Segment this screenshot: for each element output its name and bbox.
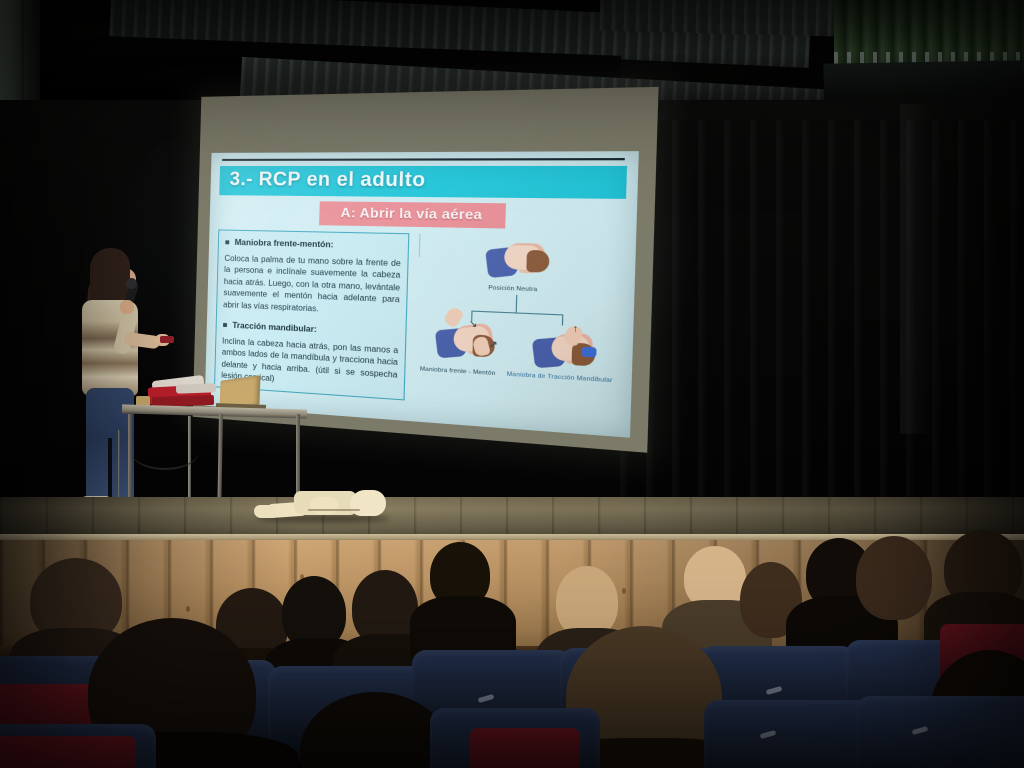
figure-caption-neutral: Posición Neutra bbox=[488, 285, 537, 293]
bullet-dot-icon: ■ bbox=[225, 237, 230, 248]
presenter-hand-mic bbox=[120, 300, 134, 314]
slide-title-bar: 3.- RCP en el adulto bbox=[219, 166, 627, 199]
head-figure-neutral bbox=[486, 241, 551, 280]
head-figure-jaw-thrust: ↑ bbox=[533, 331, 600, 372]
slide-title: 3.- RCP en el adulto bbox=[229, 169, 426, 192]
audience-member-head bbox=[856, 536, 932, 620]
slide-figure: Posición Neutra bbox=[412, 233, 625, 415]
drape-folds bbox=[620, 120, 1024, 520]
theater-seat-accent[interactable] bbox=[0, 736, 136, 768]
auditorium-scene: 3.- RCP en el adulto A: Abrir la vía aér… bbox=[0, 0, 1024, 768]
theater-seat[interactable] bbox=[704, 700, 876, 768]
figure-rail bbox=[419, 233, 421, 257]
bullet-heading: Maniobra frente-mentón: bbox=[234, 237, 333, 251]
figure-caption-jaw-thrust: Maniobra de Tracción Mandibular bbox=[507, 371, 613, 384]
figure-connector bbox=[516, 295, 518, 313]
drape-edge-highlight bbox=[900, 104, 934, 434]
head-figure-head-tilt: ↘ ↗ bbox=[436, 322, 499, 362]
theater-seat-accent[interactable] bbox=[470, 728, 580, 768]
presentation-remote bbox=[160, 336, 174, 343]
bullet-dot-icon: ■ bbox=[222, 319, 227, 330]
presentation-slide: 3.- RCP en el adulto A: Abrir la vía aér… bbox=[205, 151, 639, 438]
slide-body: ■ Maniobra frente-mentón: Coloca la palm… bbox=[214, 229, 625, 415]
slide-text-panel: ■ Maniobra frente-mentón: Coloca la palm… bbox=[214, 229, 409, 400]
figure-connector bbox=[562, 314, 564, 325]
theater-seat[interactable] bbox=[856, 696, 1024, 768]
projection-screen: 3.- RCP en el adulto A: Abrir la vía aér… bbox=[193, 87, 659, 453]
bullet-heading: Tracción mandibular: bbox=[232, 320, 317, 335]
presenter-leg-gap bbox=[108, 438, 112, 502]
bullet-item: ■ Maniobra frente-mentón: bbox=[225, 237, 402, 253]
microphone-head-icon bbox=[126, 278, 137, 289]
audience bbox=[0, 500, 1024, 768]
floor-cable bbox=[130, 430, 200, 470]
bullet-paragraph: Coloca la palma de tu mano sobre la fren… bbox=[223, 253, 401, 318]
figure-connector bbox=[471, 311, 563, 316]
screen-surface: 3.- RCP en el adulto A: Abrir la vía aér… bbox=[205, 151, 639, 438]
slide-top-rule bbox=[222, 158, 625, 161]
training-equipment-white bbox=[176, 383, 216, 393]
figure-caption-head-tilt: Maniobra frente - Mentón bbox=[420, 366, 496, 377]
slide-subtitle-bar: A: Abrir la vía aérea bbox=[319, 201, 506, 228]
slide-subtitle: A: Abrir la vía aérea bbox=[340, 205, 482, 223]
